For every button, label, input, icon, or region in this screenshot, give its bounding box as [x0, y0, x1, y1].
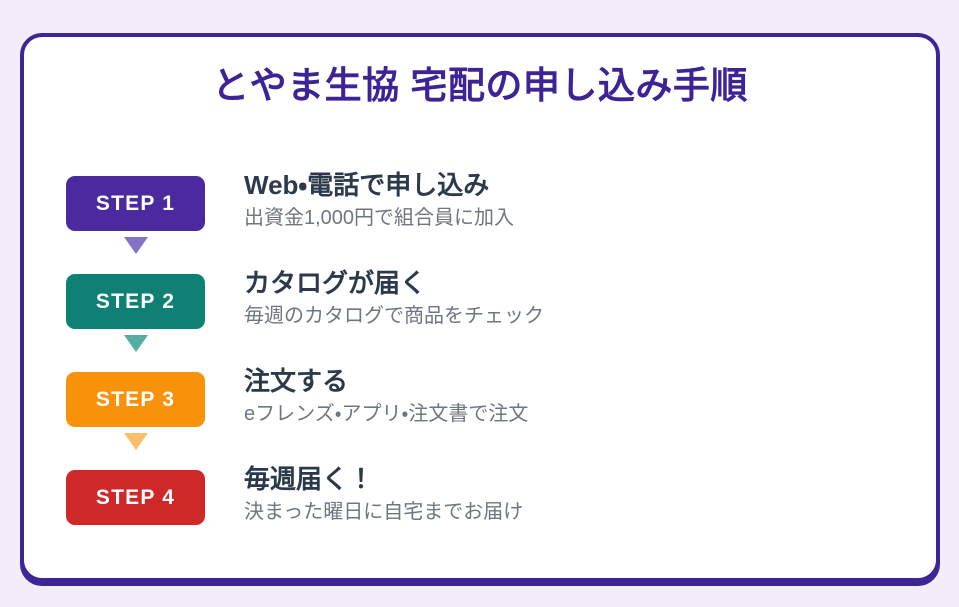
step-description-3: eフレンズ・アプリ・注文書で注文	[244, 401, 894, 427]
infographic-stage: とやま生協 宅配の申し込み手順 STEP 1 Web・電話で申し込み 出資金1,…	[0, 0, 959, 607]
arrow-down-icon-2	[124, 335, 148, 352]
step-row: STEP 1 Web・電話で申し込み 出資金1,000円で組合員に加入	[66, 169, 898, 267]
arrow-down-icon-1	[124, 237, 148, 254]
step-badge-4[interactable]: STEP 4	[66, 470, 205, 525]
step-text-1: Web・電話で申し込み 出資金1,000円で組合員に加入	[244, 169, 894, 231]
steps-list: STEP 1 Web・電話で申し込み 出資金1,000円で組合員に加入 STEP…	[66, 169, 898, 533]
step-badge-1[interactable]: STEP 1	[66, 176, 205, 231]
arrow-down-icon-3	[124, 433, 148, 450]
step-badge-2[interactable]: STEP 2	[66, 274, 205, 329]
step-description-2: 毎週のカタログで商品をチェック	[244, 303, 894, 329]
content-card: とやま生協 宅配の申し込み手順 STEP 1 Web・電話で申し込み 出資金1,…	[20, 33, 940, 582]
step-title-4: 毎週届く！	[244, 463, 894, 496]
step-text-4: 毎週届く！ 決まった曜日に自宅までお届け	[244, 463, 894, 525]
step-title-3: 注文する	[244, 365, 894, 398]
step-title-1: Web・電話で申し込み	[244, 169, 894, 202]
step-row: STEP 3 注文する eフレンズ・アプリ・注文書で注文	[66, 365, 898, 463]
step-title-2: カタログが届く	[244, 267, 894, 300]
step-row: STEP 2 カタログが届く 毎週のカタログで商品をチェック	[66, 267, 898, 365]
step-text-3: 注文する eフレンズ・アプリ・注文書で注文	[244, 365, 894, 427]
step-text-2: カタログが届く 毎週のカタログで商品をチェック	[244, 267, 894, 329]
step-description-4: 決まった曜日に自宅までお届け	[244, 499, 894, 525]
step-badge-3[interactable]: STEP 3	[66, 372, 205, 427]
step-description-1: 出資金1,000円で組合員に加入	[244, 205, 894, 231]
step-row: STEP 4 毎週届く！ 決まった曜日に自宅までお届け	[66, 463, 898, 533]
page-title: とやま生協 宅配の申し込み手順	[24, 64, 936, 108]
